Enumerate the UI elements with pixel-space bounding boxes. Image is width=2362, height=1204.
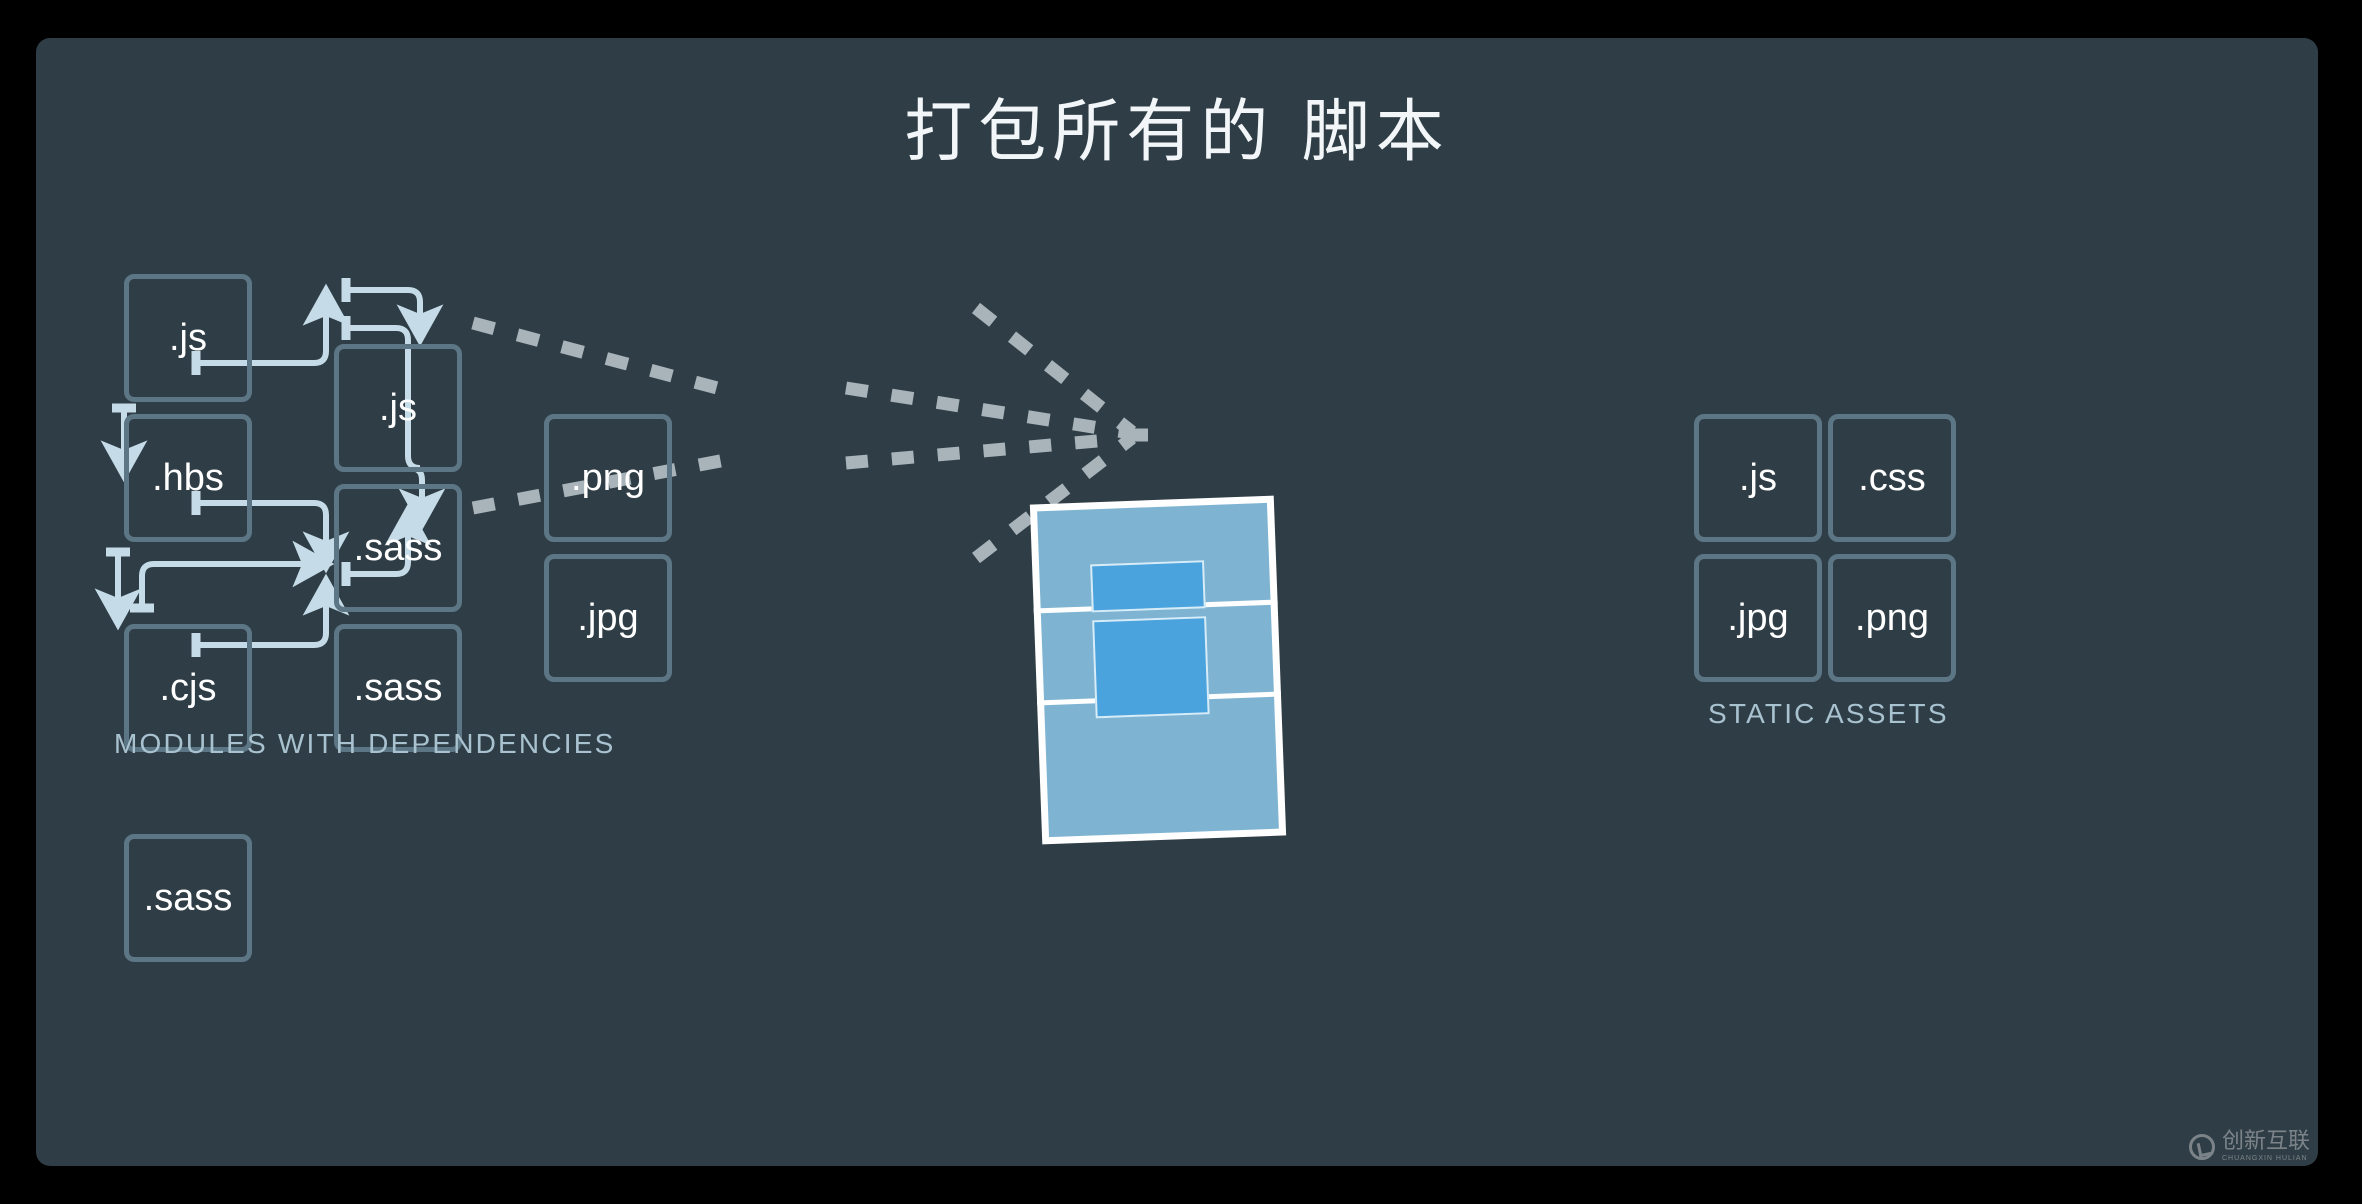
- module-box-sass-2[interactable]: .sass: [334, 484, 462, 612]
- watermark: 创新互联 CHUANGXIN HULIAN: [2189, 1131, 2310, 1162]
- module-label: .js: [379, 387, 417, 430]
- slide-stage: 打包所有的 脚本: [0, 0, 2362, 1204]
- bundler-logo-core-upper: [1090, 560, 1206, 612]
- asset-label: .png: [1855, 597, 1929, 640]
- bundler-logo: [1030, 496, 1286, 845]
- module-label: .sass: [354, 667, 443, 710]
- module-box-hbs[interactable]: .hbs: [124, 414, 252, 542]
- asset-label: .jpg: [1727, 597, 1788, 640]
- asset-box-css[interactable]: .css: [1828, 414, 1956, 542]
- bundler-logo-core-lower: [1092, 616, 1210, 718]
- module-box-sass-1[interactable]: .sass: [124, 834, 252, 962]
- edge-js2-to-png: [346, 290, 420, 326]
- flow-in-arrow-top: [473, 323, 736, 393]
- watermark-logo-icon: [2189, 1134, 2215, 1160]
- module-label: .jpg: [577, 597, 638, 640]
- module-box-png[interactable]: .png: [544, 414, 672, 542]
- flow-out-arrow-top: [846, 388, 1131, 433]
- modules-caption: MODULES WITH DEPENDENCIES: [114, 728, 616, 760]
- edge-cjs-to-sass1: [142, 564, 314, 608]
- asset-label: .js: [1739, 457, 1777, 500]
- module-label: .cjs: [160, 667, 217, 710]
- module-label: .sass: [144, 877, 233, 920]
- page-title: 打包所有的 脚本: [36, 76, 2318, 175]
- slide-panel: 打包所有的 脚本: [36, 38, 2318, 1166]
- module-label: .hbs: [152, 457, 224, 500]
- asset-box-png[interactable]: .png: [1828, 554, 1956, 682]
- asset-box-jpg[interactable]: .jpg: [1694, 554, 1822, 682]
- module-box-js-2[interactable]: .js: [334, 344, 462, 472]
- flow-head-upper: [976, 308, 1132, 432]
- module-label: .png: [571, 457, 645, 500]
- watermark-subtext: CHUANGXIN HULIAN: [2222, 1155, 2310, 1162]
- module-label: .js: [169, 317, 207, 360]
- module-box-jpg[interactable]: .jpg: [544, 554, 672, 682]
- module-box-js-1[interactable]: .js: [124, 274, 252, 402]
- flow-out-arrow-bottom: [846, 438, 1131, 463]
- watermark-brand: 创新互联: [2222, 1131, 2310, 1153]
- module-label: .sass: [354, 527, 443, 570]
- asset-box-js[interactable]: .js: [1694, 414, 1822, 542]
- assets-caption: STATIC ASSETS: [1708, 698, 1949, 730]
- asset-label: .css: [1858, 457, 1926, 500]
